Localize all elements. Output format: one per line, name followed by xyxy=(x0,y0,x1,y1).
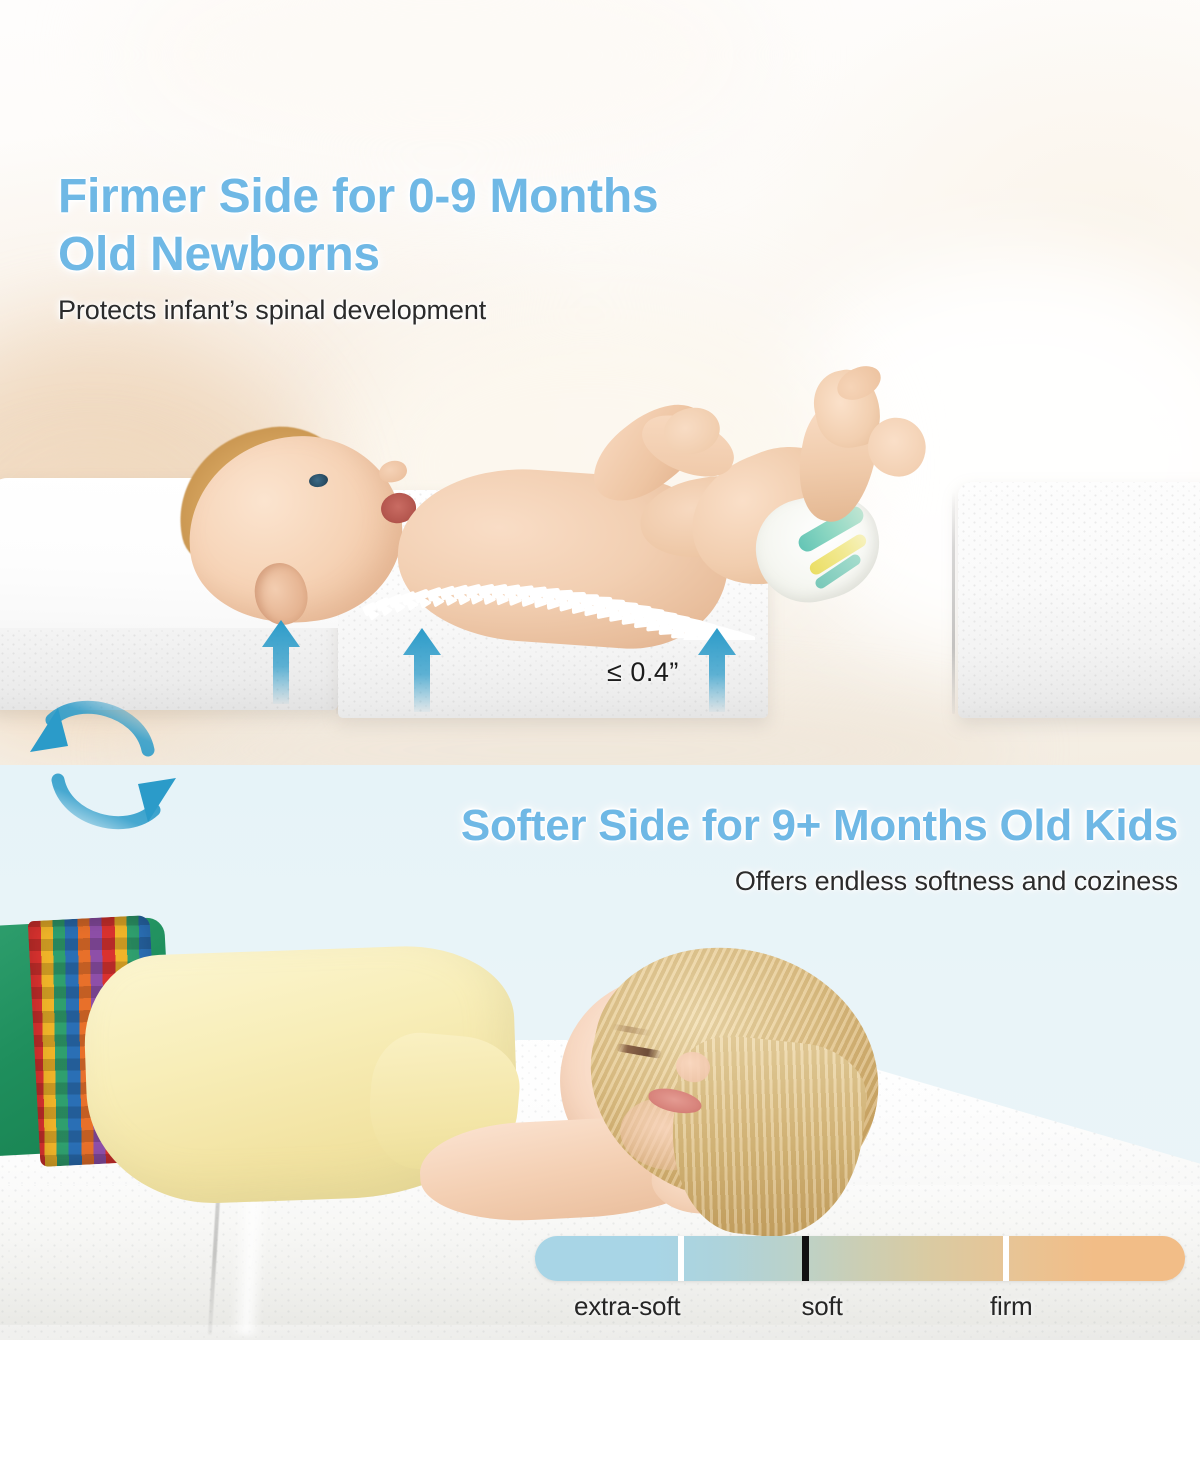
firmness-label-soft: soft xyxy=(802,1291,843,1322)
mattress-knit-texture xyxy=(958,482,1200,718)
firmer-side-panel: {"n":30} xyxy=(0,0,1200,765)
up-arrow-icon xyxy=(262,620,300,704)
up-arrow-icon xyxy=(698,628,736,712)
firmness-label-firm: firm xyxy=(990,1291,1033,1322)
firmness-label-extra-soft: extra-soft xyxy=(574,1291,680,1322)
background-blur-shape xyxy=(120,0,760,170)
firmer-side-subtitle: Protects infant’s spinal development xyxy=(58,295,878,326)
page-footer-whitespace xyxy=(0,1336,1200,1466)
firmer-side-heading-line1: Firmer Side for 0-9 Months xyxy=(58,168,878,226)
mattress-fold-seam xyxy=(952,492,955,714)
up-arrow-icon xyxy=(403,628,441,712)
firmer-side-heading-block: Firmer Side for 0-9 Months Old Newborns … xyxy=(58,168,878,326)
flip-arrow-counterclockwise-icon xyxy=(22,694,158,768)
firmness-scale-indicator xyxy=(802,1236,809,1281)
flip-arrow-clockwise-icon xyxy=(48,762,184,836)
product-infographic-page: {"n":30} xyxy=(0,0,1200,1466)
mattress-segment-right xyxy=(958,482,1200,718)
firmer-side-heading-line2: Old Newborns xyxy=(58,226,878,284)
softer-side-subtitle: Offers endless softness and coziness xyxy=(0,866,1178,897)
firmness-scale-divider xyxy=(678,1236,684,1281)
thickness-callout-label: ≤ 0.4” xyxy=(607,657,679,688)
firmness-scale-bar xyxy=(535,1236,1185,1281)
firmness-scale-labels: extra-soft soft firm xyxy=(535,1291,1185,1325)
baby-nose xyxy=(377,459,408,485)
firmness-scale-divider xyxy=(1003,1236,1009,1281)
firmness-scale: extra-soft soft firm xyxy=(535,1236,1185,1325)
